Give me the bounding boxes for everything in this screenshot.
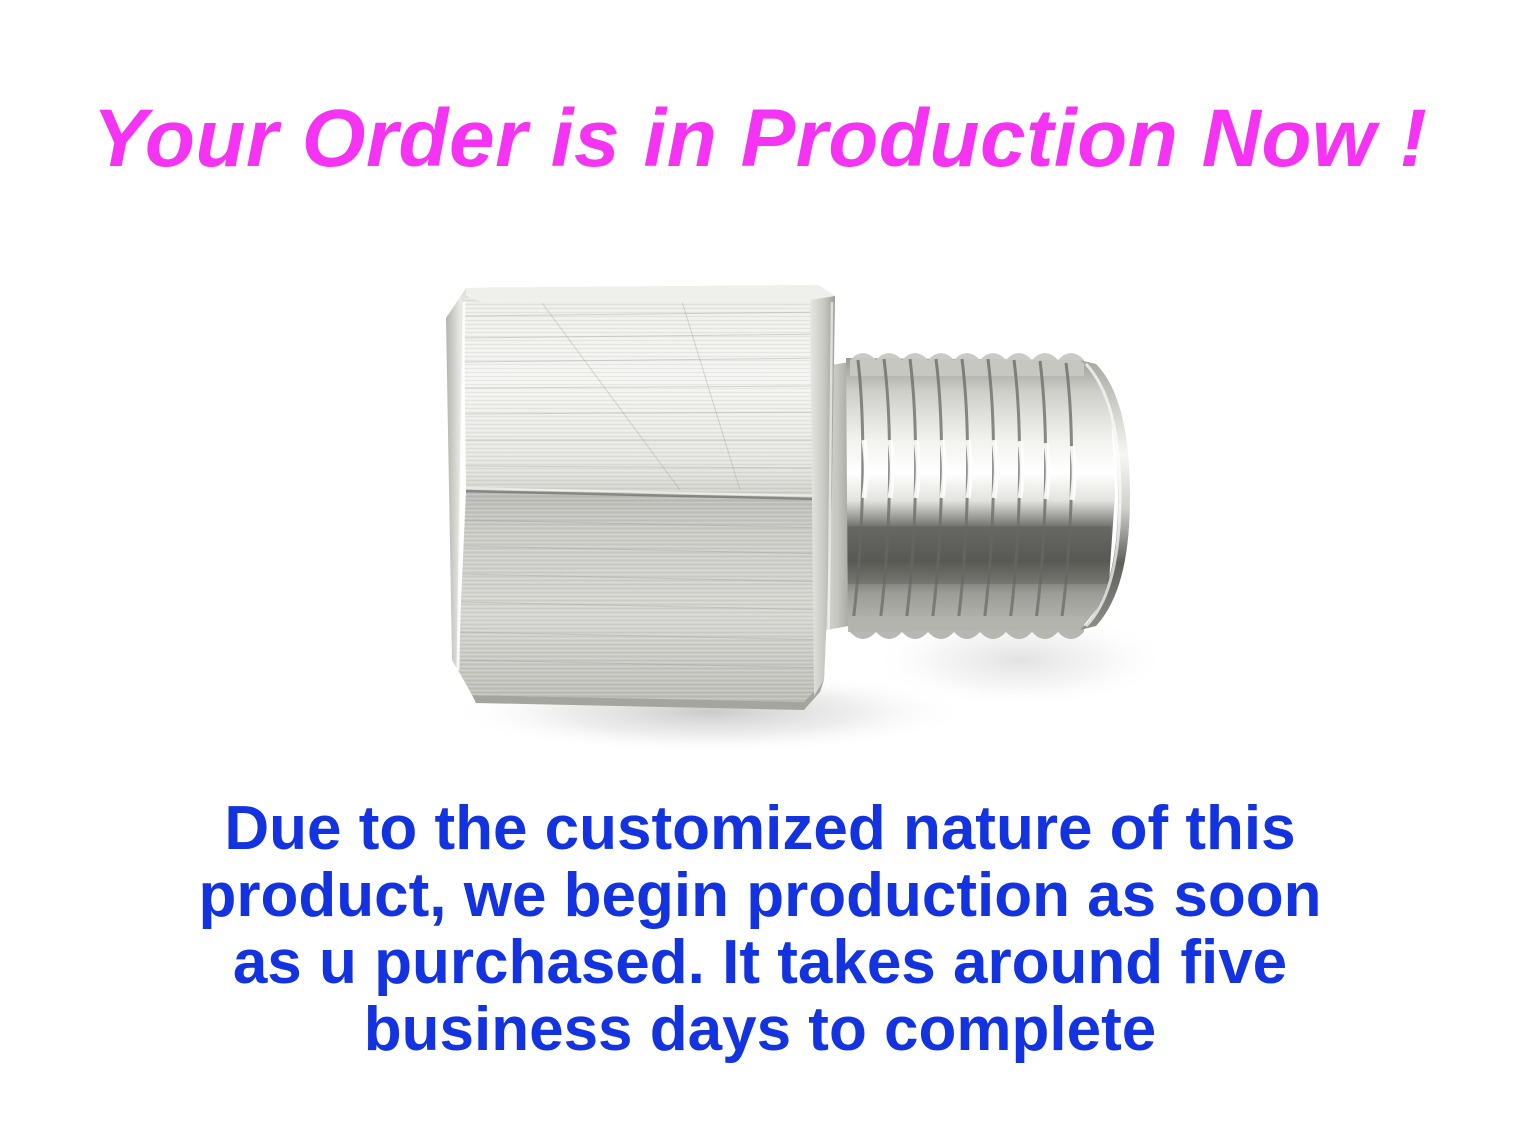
notice-line-2: product, we begin production as soon — [0, 862, 1520, 929]
notice-line-4: business days to complete — [0, 996, 1520, 1063]
product-photo — [380, 240, 1180, 760]
promo-banner: Your Order is in Production Now ! — [0, 0, 1520, 1140]
hex-body — [440, 280, 860, 720]
notice-line-1: Due to the customized nature of this — [0, 795, 1520, 862]
page-title: Your Order is in Production Now ! — [0, 93, 1520, 185]
notice-line-3: as u purchased. It takes around five — [0, 929, 1520, 996]
production-notice: Due to the customized nature of this pro… — [0, 795, 1520, 1063]
male-thread-section — [812, 353, 1130, 639]
hex-adapter-fitting-illustration — [380, 240, 1180, 760]
